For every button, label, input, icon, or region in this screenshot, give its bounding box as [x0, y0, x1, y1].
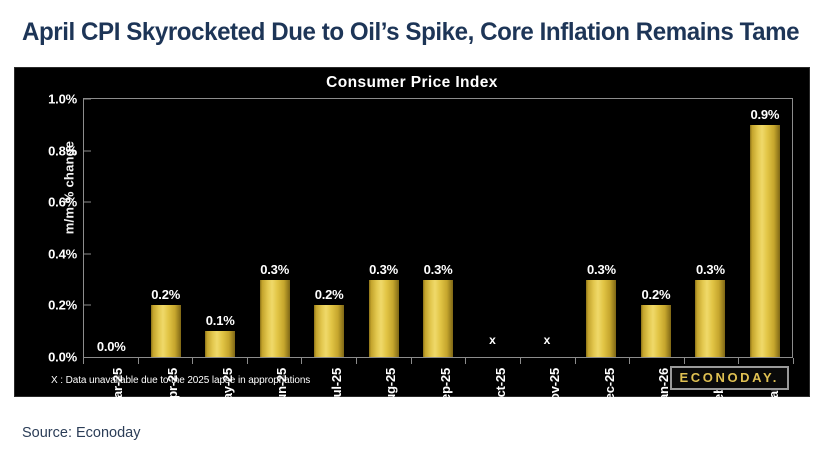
bar-group: 0.2% [629, 99, 683, 357]
bar-value-label: 0.2% [138, 287, 192, 302]
x-axis-category-label: Jul-25 [329, 368, 344, 404]
page-headline: April CPI Skyrocketed Due to Oil’s Spike… [22, 18, 784, 47]
bar-group: 0.3% [356, 99, 410, 357]
bar-series: 0.0%0.2%0.1%0.3%0.2%0.3%0.3%xx0.3%0.2%0.… [84, 99, 792, 357]
x-axis-label-cell: May-25 [192, 364, 247, 424]
y-axis-tick-label: 1.0% [48, 92, 77, 107]
chart-panel: Consumer Price Index m/m % change 0.0%0.… [14, 67, 810, 397]
x-axis-category-label: Aug-25 [383, 368, 398, 411]
bar [641, 305, 671, 357]
bar-group: 0.3% [683, 99, 737, 357]
bar [750, 125, 780, 357]
x-axis-label-cell: Nov-25 [520, 364, 575, 424]
bar-group: x [520, 99, 574, 357]
x-axis-tick-mark [793, 358, 794, 364]
bar [314, 305, 344, 357]
x-axis-label-cell: Jun-25 [247, 364, 302, 424]
plot-area: 0.0%0.2%0.4%0.6%0.8%1.0% 0.0%0.2%0.1%0.3… [83, 98, 793, 358]
bar-value-label: 0.2% [629, 287, 683, 302]
bar-value-label: 0.3% [574, 262, 628, 277]
y-axis-tick-label: 0.4% [48, 246, 77, 261]
x-axis-category-label: Dec-25 [602, 368, 617, 409]
source-caption: Source: Econoday [22, 425, 141, 441]
bar-value-label: 0.0% [84, 339, 138, 354]
bar-value-label: 0.3% [411, 262, 465, 277]
y-axis-tick-label: 0.8% [48, 143, 77, 158]
bar-group: 0.1% [193, 99, 247, 357]
y-axis-tick-label: 0.0% [48, 350, 77, 365]
x-axis-label-cell: Jul-25 [301, 364, 356, 424]
chart-footnote: X : Data unavailable due to the 2025 lap… [51, 375, 310, 386]
x-axis-category-label: Apr-25 [165, 368, 180, 408]
y-axis-tick-label: 0.2% [48, 298, 77, 313]
bar [423, 280, 453, 357]
bar-group: 0.0% [84, 99, 138, 357]
x-axis-category-label: Nov-25 [547, 368, 562, 410]
x-axis-category-label: Oct-25 [493, 368, 508, 407]
x-axis-label-cell: Sep-25 [411, 364, 466, 424]
x-axis-label-cell: Mar-25 [83, 364, 138, 424]
bar-value-label: 0.3% [356, 262, 410, 277]
bar-group: 0.2% [138, 99, 192, 357]
missing-data-marker: x [465, 333, 519, 347]
econoday-logo-text: ECONODAY. [680, 370, 780, 385]
bar-group: 0.9% [738, 99, 792, 357]
econoday-logo: ECONODAY. [670, 366, 790, 390]
missing-data-marker: x [520, 333, 574, 347]
bar-value-label: 0.9% [738, 107, 792, 122]
bar-group: 0.3% [574, 99, 628, 357]
bar-group: x [465, 99, 519, 357]
x-axis-category-label: Sep-25 [438, 368, 453, 409]
bar-value-label: 0.1% [193, 313, 247, 328]
bar [205, 331, 235, 357]
bar [695, 280, 725, 357]
bar-group: 0.2% [302, 99, 356, 357]
x-axis-label-cell: Dec-25 [574, 364, 629, 424]
x-axis-label-cell: Aug-25 [356, 364, 411, 424]
bar-value-label: 0.2% [302, 287, 356, 302]
bar-group: 0.3% [411, 99, 465, 357]
y-axis-title: m/m % change [62, 118, 77, 258]
y-axis-tick-label: 0.6% [48, 195, 77, 210]
bar [260, 280, 290, 357]
bar-value-label: 0.3% [247, 262, 301, 277]
x-axis-label-cell: Apr-25 [138, 364, 193, 424]
bar [369, 280, 399, 357]
bar [586, 280, 616, 357]
bar [151, 305, 181, 357]
chart-title: Consumer Price Index [15, 74, 809, 92]
bar-group: 0.3% [247, 99, 301, 357]
bar-value-label: 0.3% [683, 262, 737, 277]
x-axis-label-cell: Oct-25 [465, 364, 520, 424]
